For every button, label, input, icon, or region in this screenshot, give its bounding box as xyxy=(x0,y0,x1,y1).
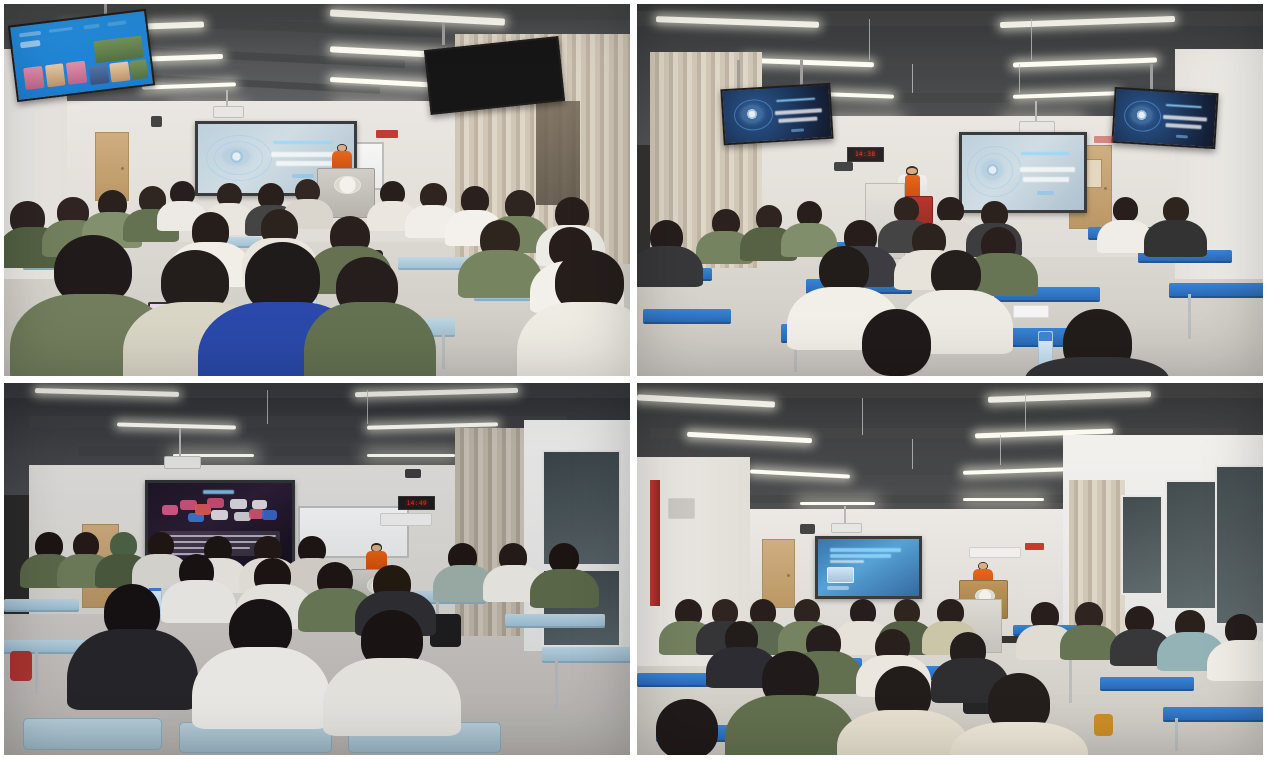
ceiling-light xyxy=(367,454,455,457)
door-knob xyxy=(121,167,124,170)
window-curtains xyxy=(455,428,530,636)
light-pendant xyxy=(267,390,268,423)
tv-tab-selected[interactable] xyxy=(20,40,41,49)
desk-leg xyxy=(1069,658,1072,703)
student-desk xyxy=(4,599,79,610)
classroom-scene-bottom-left: 14:49 xyxy=(4,383,630,755)
mindmap-node xyxy=(162,505,178,515)
ceiling-projector xyxy=(164,456,201,469)
light-pendant xyxy=(367,390,368,423)
student-desk xyxy=(1100,677,1194,689)
air-conditioner xyxy=(969,547,1021,558)
window-glass xyxy=(536,101,580,205)
ceiling-light xyxy=(800,502,875,505)
window-pane xyxy=(1121,495,1163,596)
tv-slide-emblem-ring xyxy=(732,98,773,131)
light-pendant xyxy=(1019,64,1020,94)
ceiling-projector xyxy=(831,523,862,534)
mindmap-node xyxy=(211,510,228,520)
slide-kicker xyxy=(273,141,332,144)
mindmap-node xyxy=(230,499,247,509)
student-body xyxy=(637,246,703,287)
classroom-scene-bottom-right: Wide classroom with vivid blue desks; a … xyxy=(637,383,1263,755)
notebook xyxy=(1013,305,1049,318)
presenter-face xyxy=(979,563,986,568)
slide-footer-chip xyxy=(292,174,314,178)
collage-panel-bottom-left[interactable]: 14:49 xyxy=(4,383,630,755)
door-knob xyxy=(787,574,790,577)
window-pane xyxy=(1165,480,1219,610)
student-body-foreground xyxy=(323,658,461,736)
desk-leg xyxy=(555,658,558,710)
tv-slide-kicker xyxy=(1166,104,1202,108)
tv-thumbnail[interactable] xyxy=(44,63,65,87)
desk-leg xyxy=(1188,294,1191,339)
light-pendant xyxy=(862,398,863,435)
wall-speaker xyxy=(405,469,421,479)
desk-leg xyxy=(35,651,38,696)
slide-heading xyxy=(203,490,235,494)
ceiling-projector xyxy=(213,106,244,118)
slide-title-line xyxy=(1023,177,1068,182)
slide-heading-line xyxy=(830,554,890,558)
projector-mount xyxy=(1035,101,1037,123)
tv-thumbnail[interactable] xyxy=(88,63,109,84)
student-body xyxy=(530,569,599,608)
exit-sign xyxy=(376,130,397,137)
ceiling-tv-media[interactable] xyxy=(7,8,154,101)
student-desk xyxy=(1169,283,1263,296)
tv-thumbnail[interactable] xyxy=(129,59,147,80)
tv-nav-bar xyxy=(83,23,99,29)
student-desk xyxy=(505,614,605,626)
slide-kicker xyxy=(1021,152,1069,155)
slide-inline-image xyxy=(827,567,854,583)
bottle-cap xyxy=(1039,332,1053,340)
classroom-scene-top-left: Lecture classroom with students seated a… xyxy=(4,4,630,376)
tv-thumbnail[interactable] xyxy=(23,66,44,90)
tv-thumbnail[interactable] xyxy=(109,61,130,82)
ceiling-tv-right[interactable] xyxy=(1111,86,1218,148)
student-body-foreground xyxy=(67,629,198,711)
tv-hero-thumbnail[interactable] xyxy=(93,35,144,63)
slide-title-line xyxy=(1020,167,1075,172)
presenter-face xyxy=(372,545,380,551)
ceiling-duct xyxy=(637,383,1263,398)
tv-slide-footer-chip xyxy=(1176,134,1188,138)
wall-speaker xyxy=(834,162,853,171)
presenter-face xyxy=(338,145,346,150)
light-pendant xyxy=(1025,394,1026,431)
wall-speaker xyxy=(151,116,162,128)
window-pane xyxy=(1215,465,1263,625)
projection-screen xyxy=(959,132,1087,212)
tv-ceiling-mount xyxy=(737,60,740,90)
student-head xyxy=(1113,197,1138,222)
tv-slide-title-line xyxy=(774,109,821,116)
tv-slide-footer-chip xyxy=(790,128,803,132)
projector-mount xyxy=(179,428,181,458)
mindmap-node xyxy=(207,498,224,508)
wall-cabinet xyxy=(668,498,695,519)
exit-sign xyxy=(1094,136,1113,143)
backpack xyxy=(10,651,32,681)
tv-slide-kicker xyxy=(776,98,814,102)
student-body xyxy=(161,580,236,623)
collage-panel-top-left[interactable]: Lecture classroom with students seated a… xyxy=(4,4,630,376)
presenter-face xyxy=(907,168,917,174)
tv-nav-bar xyxy=(18,30,40,37)
collage-panel-top-right[interactable]: 14:38 xyxy=(637,4,1263,376)
tv-nav-bar xyxy=(48,26,72,33)
projection-screen xyxy=(815,536,921,600)
backpack xyxy=(1094,714,1113,736)
fire-standpipe xyxy=(650,480,660,606)
student-head xyxy=(894,197,919,222)
ceiling-light xyxy=(963,498,1044,501)
podium-crest-icon xyxy=(334,176,361,194)
slide-emblem-ring xyxy=(967,146,1021,197)
tv-slide-title-line xyxy=(1163,115,1207,122)
light-pendant xyxy=(912,439,913,469)
tv-thumbnail[interactable] xyxy=(65,60,86,84)
slide-footer-chip xyxy=(827,586,849,590)
door-knob xyxy=(1104,187,1107,190)
led-clock: 14:38 xyxy=(847,147,884,162)
tv-slide-emblem-ring xyxy=(1123,99,1162,132)
projector-mount xyxy=(844,506,846,525)
student-body-foreground xyxy=(192,647,330,729)
light-pendant xyxy=(869,19,870,60)
classroom-door[interactable] xyxy=(762,539,795,608)
slide-heading-line xyxy=(830,560,864,563)
wall-speaker xyxy=(800,524,815,534)
light-pendant xyxy=(912,64,913,94)
ceiling-tv-left[interactable] xyxy=(720,83,834,146)
light-pendant xyxy=(1031,19,1032,60)
exit-sign xyxy=(1025,543,1044,550)
mindmap-node xyxy=(180,500,197,510)
photo-collage: Lecture classroom with students seated a… xyxy=(0,0,1267,760)
air-conditioner xyxy=(380,513,432,526)
slide-footer-chip xyxy=(1037,191,1054,195)
classroom-scene-top-right: 14:38 xyxy=(637,4,1263,376)
slide-heading-line xyxy=(830,548,900,552)
tv-slide-title-line xyxy=(1165,123,1201,129)
tv-slide-title-line xyxy=(778,117,816,123)
slide-emblem-ring xyxy=(206,135,272,181)
tv-nav-bar xyxy=(107,20,126,26)
led-clock-time: 14:49 xyxy=(407,500,428,507)
slide-title-line xyxy=(276,161,334,166)
student-body xyxy=(1144,220,1207,257)
student-desk xyxy=(643,309,731,322)
tv-ceiling-mount xyxy=(442,23,445,45)
led-clock: 14:49 xyxy=(398,496,435,510)
collage-panel-bottom-right[interactable]: Wide classroom with vivid blue desks; a … xyxy=(637,383,1263,755)
mindmap-node xyxy=(262,510,278,519)
mindmap-node xyxy=(252,500,268,509)
led-clock-time: 14:38 xyxy=(855,151,876,158)
light-pendant xyxy=(1000,435,1001,465)
